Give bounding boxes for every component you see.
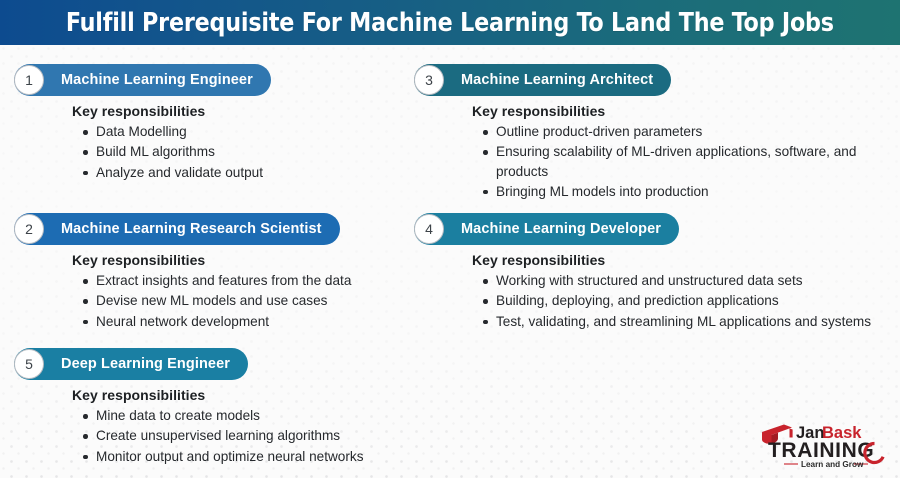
list-item: Create unsupervised learning algorithms [96, 426, 364, 445]
page-title: Fulfill Prerequisite For Machine Learnin… [66, 8, 834, 38]
list-item: Building, deploying, and prediction appl… [496, 291, 884, 310]
list-item: Bringing ML models into production [496, 182, 884, 201]
list-item: Test, validating, and streamlining ML ap… [496, 312, 884, 331]
logo-word-training: TRAINING [768, 439, 874, 462]
job-role-number-badge: 2 [14, 214, 44, 244]
job-role-header: Machine Learning Engineer1 [14, 64, 271, 96]
job-role-pill[interactable]: Machine Learning Architect [414, 64, 671, 96]
job-role-title: Machine Learning Architect [461, 73, 653, 88]
job-role-body: Key responsibilitiesData ModellingBuild … [14, 96, 271, 182]
janbask-training-logo[interactable]: Jan Bask TRAINING Learn and Grow [758, 418, 890, 470]
job-role-number-badge: 4 [414, 214, 444, 244]
job-role-header: Machine Learning Research Scientist2 [14, 213, 351, 245]
list-item: Analyze and validate output [96, 163, 271, 182]
job-role-body: Key responsibilitiesExtract insights and… [14, 245, 351, 331]
key-responsibilities-heading: Key responsibilities [472, 103, 884, 119]
header-banner: Fulfill Prerequisite For Machine Learnin… [0, 0, 900, 45]
list-item: Extract insights and features from the d… [96, 271, 351, 290]
job-role-pill[interactable]: Machine Learning Developer [414, 213, 679, 245]
list-item: Devise new ML models and use cases [96, 291, 351, 310]
job-role-pill[interactable]: Machine Learning Engineer [14, 64, 271, 96]
responsibility-list: Data ModellingBuild ML algorithmsAnalyze… [72, 122, 271, 182]
responsibility-list: Outline product-driven parametersEnsurin… [472, 122, 884, 201]
infographic-poster: Fulfill Prerequisite For Machine Learnin… [0, 0, 900, 478]
job-role-number-badge: 3 [414, 65, 444, 95]
job-role-title: Machine Learning Engineer [61, 73, 253, 88]
job-role-block: Deep Learning Engineer5Key responsibilit… [14, 348, 364, 467]
key-responsibilities-heading: Key responsibilities [72, 103, 271, 119]
job-role-body: Key responsibilitiesMine data to create … [14, 380, 364, 466]
job-role-block: Machine Learning Architect3Key responsib… [414, 64, 884, 202]
list-item: Data Modelling [96, 122, 271, 141]
logo-tagline: Learn and Grow [801, 460, 864, 469]
list-item: Working with structured and unstructured… [496, 271, 884, 290]
responsibility-list: Working with structured and unstructured… [472, 271, 884, 331]
job-role-block: Machine Learning Research Scientist2Key … [14, 213, 351, 332]
job-role-block: Machine Learning Developer4Key responsib… [414, 213, 884, 332]
list-item: Neural network development [96, 312, 351, 331]
job-role-title: Machine Learning Developer [461, 222, 661, 237]
job-role-header: Machine Learning Architect3 [414, 64, 884, 96]
job-role-number-badge: 5 [14, 349, 44, 379]
job-role-body: Key responsibilitiesWorking with structu… [414, 245, 884, 331]
list-item: Monitor output and optimize neural netwo… [96, 447, 364, 466]
key-responsibilities-heading: Key responsibilities [72, 387, 364, 403]
key-responsibilities-heading: Key responsibilities [72, 252, 351, 268]
list-item: Build ML algorithms [96, 142, 271, 161]
list-item: Outline product-driven parameters [496, 122, 884, 141]
job-role-number-badge: 1 [14, 65, 44, 95]
job-role-title: Machine Learning Research Scientist [61, 222, 322, 237]
job-role-body: Key responsibilitiesOutline product-driv… [414, 96, 884, 201]
logo-artwork: Jan Bask TRAINING Learn and Grow [758, 418, 890, 470]
responsibility-list: Mine data to create modelsCreate unsuper… [72, 406, 364, 466]
job-role-title: Deep Learning Engineer [61, 357, 230, 372]
key-responsibilities-heading: Key responsibilities [472, 252, 884, 268]
job-role-pill[interactable]: Machine Learning Research Scientist [14, 213, 340, 245]
responsibility-list: Extract insights and features from the d… [72, 271, 351, 331]
job-role-header: Deep Learning Engineer5 [14, 348, 364, 380]
list-item: Ensuring scalability of ML-driven applic… [496, 142, 884, 181]
content-columns: Machine Learning Engineer1Key responsibi… [0, 45, 900, 478]
list-item: Mine data to create models [96, 406, 364, 425]
job-role-pill[interactable]: Deep Learning Engineer [14, 348, 248, 380]
job-role-block: Machine Learning Engineer1Key responsibi… [14, 64, 271, 183]
job-role-header: Machine Learning Developer4 [414, 213, 884, 245]
